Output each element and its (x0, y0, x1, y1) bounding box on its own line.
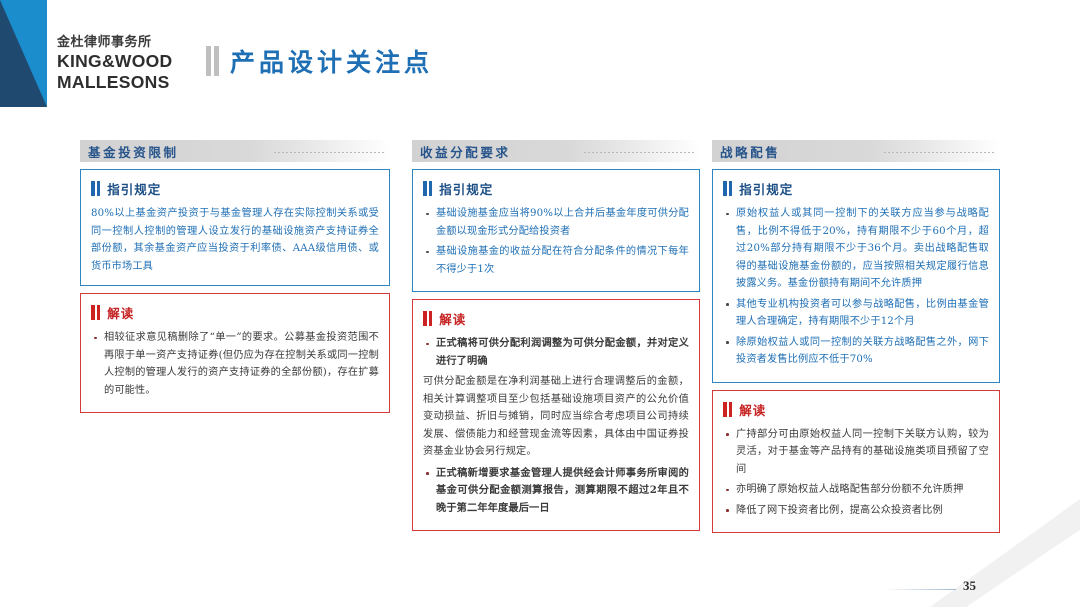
page-title-text: 产品设计关注点 (230, 43, 433, 79)
heading-bar-marker-icon (723, 181, 732, 196)
interpretation-box: 解读 正式稿将可供分配利润调整为可供分配金额，并对定义进行了明确 可供分配金额是… (412, 299, 700, 531)
firm-name-en-line2: MALLESONS (57, 73, 197, 93)
guideline-heading-text: 指引规定 (439, 179, 493, 198)
firm-name-en-line1: KING&WOOD (57, 52, 197, 72)
guideline-heading: 指引规定 (91, 179, 379, 198)
guideline-paragraph: 80%以上基金资产投资于与基金管理人存在实际控制关系或受同一控制人控制的管理人设… (91, 205, 379, 275)
firm-name-cn: 金杜律师事务所 (57, 36, 197, 50)
guideline-bullet-list: 基础设施基金应当将90%以上合并后基金年度可供分配金额以现金形式分配给投资者 基… (423, 205, 689, 278)
guideline-bullet-list: 原始权益人或其同一控制下的关联方应当参与战略配售，比例不得低于20%，持有期限不… (723, 205, 989, 369)
column-strategic-placement: 战略配售 指引规定 原始权益人或其同一控制下的关联方应当参与战略配售，比例不得低… (712, 140, 1000, 533)
heading-bar-marker-icon (91, 305, 100, 320)
list-item: 相较征求意见稿删除了“单一”的要求。公募基金投资范围不再限于单一资产支持证券(但… (91, 329, 379, 399)
list-item: 基础设施基金的收益分配在符合分配条件的情况下每年不得少于1次 (423, 243, 689, 278)
firm-branding: 金杜律师事务所 KING&WOOD MALLESONS (57, 36, 197, 93)
list-item: 其他专业机构投资者可以参与战略配售，比例由基金管理人合理确定，持有期限不少于12… (723, 296, 989, 331)
logo-corner-mark (0, 0, 47, 107)
interpretation-bullet-list: 广持部分可由原始权益人同一控制下关联方认购，较为灵活，对于基金等产品持有的基础设… (723, 426, 989, 520)
list-item: 亦明确了原始权益人战略配售部分份额不允许质押 (723, 481, 989, 499)
interpretation-heading: 解读 (91, 303, 379, 322)
interpretation-heading: 解读 (423, 309, 689, 328)
content-columns: 基金投资限制 指引规定 80%以上基金资产投资于与基金管理人存在实际控制关系或受… (0, 140, 1080, 570)
guideline-box: 指引规定 基础设施基金应当将90%以上合并后基金年度可供分配金额以现金形式分配给… (412, 169, 700, 292)
section-band: 战略配售 (712, 140, 1000, 162)
guideline-box: 指引规定 原始权益人或其同一控制下的关联方应当参与战略配售，比例不得低于20%，… (712, 169, 1000, 383)
section-band: 收益分配要求 (412, 140, 700, 162)
list-item: 正式稿新增要求基金管理人提供经会计师事务所审阅的基金可供分配金额测算报告，测算期… (423, 465, 689, 518)
guideline-box: 指引规定 80%以上基金资产投资于与基金管理人存在实际控制关系或受同一控制人控制… (80, 169, 390, 286)
list-item: 原始权益人或其同一控制下的关联方应当参与战略配售，比例不得低于20%，持有期限不… (723, 205, 989, 293)
guideline-heading-text: 指引规定 (739, 179, 793, 198)
dotted-rule (274, 152, 386, 153)
interpretation-heading-text: 解读 (107, 303, 134, 322)
interpretation-box: 解读 相较征求意见稿删除了“单一”的要求。公募基金投资范围不再限于单一资产支持证… (80, 293, 390, 413)
dotted-rule (884, 152, 996, 153)
section-band-label: 战略配售 (712, 142, 780, 161)
guideline-heading: 指引规定 (723, 179, 989, 198)
guideline-heading: 指引规定 (423, 179, 689, 198)
footer-rule (884, 589, 956, 590)
list-item: 正式稿将可供分配利润调整为可供分配金额，并对定义进行了明确 (423, 335, 689, 370)
list-item: 广持部分可由原始权益人同一控制下关联方认购，较为灵活，对于基金等产品持有的基础设… (723, 426, 989, 479)
guideline-heading-text: 指引规定 (107, 179, 161, 198)
heading-bar-marker-icon (423, 311, 432, 326)
interpretation-paragraph: 可供分配金额是在净利润基础上进行合理调整后的金额，相关计算调整项目至少包括基础设… (423, 373, 689, 461)
heading-bar-marker-icon (91, 181, 100, 196)
interpretation-heading: 解读 (723, 400, 989, 419)
column-fund-investment-limits: 基金投资限制 指引规定 80%以上基金资产投资于与基金管理人存在实际控制关系或受… (80, 140, 390, 413)
interpretation-bullet-list: 相较征求意见稿删除了“单一”的要求。公募基金投资范围不再限于单一资产支持证券(但… (91, 329, 379, 399)
title-bar-marker-icon (206, 46, 219, 76)
list-item: 基础设施基金应当将90%以上合并后基金年度可供分配金额以现金形式分配给投资者 (423, 205, 689, 240)
section-band-label: 基金投资限制 (80, 142, 179, 161)
page-title: 产品设计关注点 (206, 43, 433, 79)
list-item: 降低了网下投资者比例，提高公众投资者比例 (723, 502, 989, 520)
interpretation-bullet-list: 正式稿将可供分配利润调整为可供分配金额，并对定义进行了明确 (423, 335, 689, 370)
heading-bar-marker-icon (423, 181, 432, 196)
section-band: 基金投资限制 (80, 140, 390, 162)
interpretation-heading-text: 解读 (739, 400, 766, 419)
column-income-distribution: 收益分配要求 指引规定 基础设施基金应当将90%以上合并后基金年度可供分配金额以… (412, 140, 700, 531)
interpretation-bullet-list-2: 正式稿新增要求基金管理人提供经会计师事务所审阅的基金可供分配金额测算报告，测算期… (423, 465, 689, 518)
interpretation-heading-text: 解读 (439, 309, 466, 328)
dotted-rule (584, 152, 696, 153)
section-band-label: 收益分配要求 (412, 142, 511, 161)
interpretation-box: 解读 广持部分可由原始权益人同一控制下关联方认购，较为灵活，对于基金等产品持有的… (712, 390, 1000, 534)
heading-bar-marker-icon (723, 402, 732, 417)
page-number: 35 (963, 578, 976, 594)
list-item: 除原始权益人或同一控制的关联方战略配售之外，网下投资者发售比例应不低于70% (723, 334, 989, 369)
